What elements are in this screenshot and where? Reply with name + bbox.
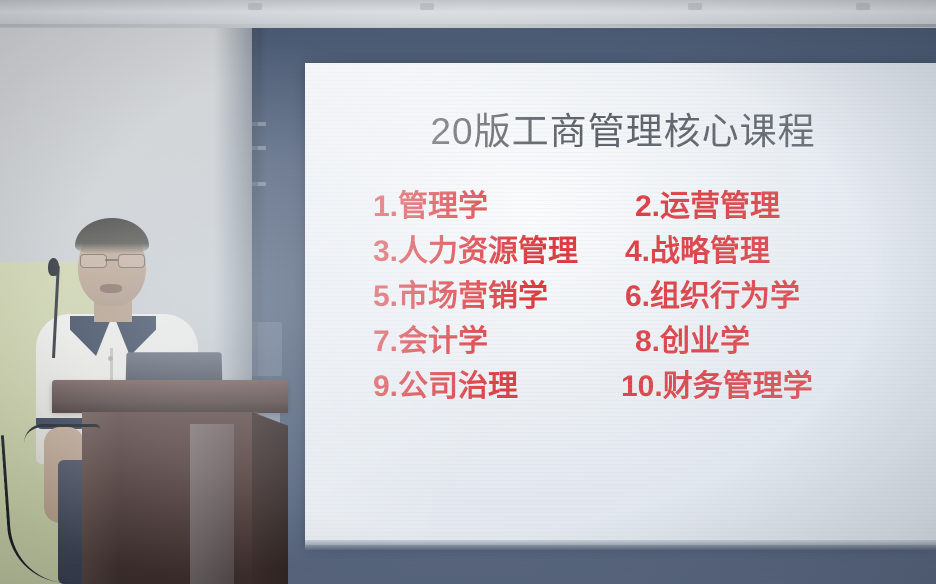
course-item-4: 4.战略管理 <box>625 226 770 270</box>
course-row: 7.会计学 8.创业学 <box>363 316 903 361</box>
course-item-9: 9.公司治理 <box>373 361 518 405</box>
slide-title: 20版工商管理核心课程 <box>363 101 883 155</box>
course-item-1: 1.管理学 <box>373 181 488 225</box>
ceiling-vent-4 <box>856 3 870 10</box>
screen-bottom-edge <box>305 540 936 550</box>
glasses-lens-left <box>80 254 107 268</box>
glasses-lens-right <box>118 254 145 268</box>
microphone-icon <box>48 258 59 276</box>
course-row: 5.市场营销学 6.组织行为学 <box>363 271 903 316</box>
course-row: 3.人力资源管理 4.战略管理 <box>363 226 903 271</box>
glasses-icon <box>80 254 144 266</box>
podium-front-panel <box>190 424 234 584</box>
course-item-3: 3.人力资源管理 <box>373 226 578 270</box>
presenter-hair <box>75 218 149 254</box>
course-item-5: 5.市场营销学 <box>373 271 548 315</box>
ceiling-seam <box>0 24 936 27</box>
course-item-7: 7.会计学 <box>373 316 488 360</box>
course-list: 1.管理学 2.运营管理 3.人力资源管理 4.战略管理 5.市场营销学 6.组… <box>363 181 903 406</box>
presenter-mouth <box>100 284 122 293</box>
podium-side <box>252 412 288 584</box>
ceiling-vent-1 <box>248 3 262 10</box>
ceiling-vent-3 <box>688 3 702 10</box>
projection-screen: 20版工商管理核心课程 1.管理学 2.运营管理 3.人力资源管理 4.战略管理… <box>305 63 936 545</box>
course-item-2: 2.运营管理 <box>635 181 780 225</box>
course-row: 9.公司治理 10.财务管理学 <box>363 361 903 406</box>
course-row: 1.管理学 2.运营管理 <box>363 181 903 226</box>
glasses-bridge <box>105 259 118 261</box>
presenter-shirt-button-1 <box>108 356 113 361</box>
presentation-slide: 20版工商管理核心课程 1.管理学 2.运营管理 3.人力资源管理 4.战略管理… <box>305 63 936 545</box>
course-item-10: 10.财务管理学 <box>621 361 813 405</box>
ceiling-vent-2 <box>420 3 434 10</box>
lecture-photo-scene: 20版工商管理核心课程 1.管理学 2.运营管理 3.人力资源管理 4.战略管理… <box>0 0 936 584</box>
course-item-6: 6.组织行为学 <box>625 271 800 315</box>
course-item-8: 8.创业学 <box>635 316 750 360</box>
